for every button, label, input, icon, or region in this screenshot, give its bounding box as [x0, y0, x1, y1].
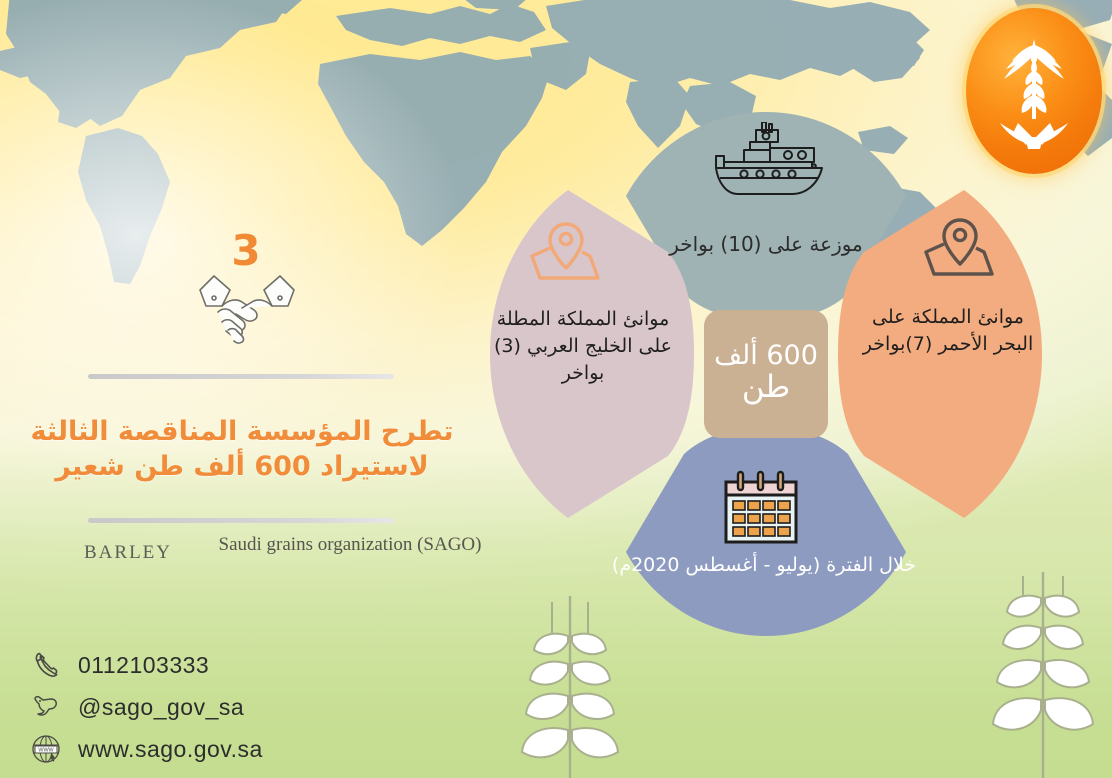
wheat-stalk-left-icon [500, 596, 640, 778]
infographic-canvas: 3 تطرح المؤسسة المناقصة الثالثة لاستيراد… [0, 0, 1112, 778]
organization-name-en: Saudi grains organization (SAGO) [210, 534, 490, 556]
center-value: 600 ألف [714, 342, 818, 370]
contact-row-phone[interactable]: 0112103333 [24, 644, 444, 686]
divider-top [88, 374, 394, 379]
petal-left-label: موانئ المملكة المطلة على الخليج العربي (… [490, 306, 676, 387]
map-pin-icon-right [916, 216, 1004, 280]
handshake-icon [192, 260, 302, 348]
commodity-label: BARLEY [84, 542, 172, 564]
page-title: تطرح المؤسسة المناقصة الثالثة لاستيراد 6… [12, 414, 472, 484]
twitter-bird-icon [24, 694, 68, 720]
ship-icon [702, 122, 834, 204]
calendar-icon [718, 470, 804, 550]
svg-text:WWW: WWW [38, 748, 54, 754]
contact-row-twitter[interactable]: @sago_gov_sa [24, 686, 444, 728]
center-total-badge: 600 ألف طن [704, 310, 828, 438]
phone-number: 0112103333 [68, 652, 209, 679]
petal-bottom-label: خلال الفترة (يوليو - أغسطس 2020م) [604, 552, 924, 579]
twitter-handle: @sago_gov_sa [68, 694, 244, 721]
petal-top-label: موزعة على (10) بواخر [616, 230, 916, 258]
map-pin-icon-left [522, 220, 610, 284]
contact-row-website[interactable]: WWW www.sago.gov.sa [24, 728, 444, 770]
subtitle-row: BARLEY Saudi grains organization (SAGO) [50, 534, 480, 590]
globe-www-icon: WWW [24, 732, 68, 766]
contact-block: 0112103333 @sago_gov_sa WWW [24, 644, 444, 770]
phone-icon [24, 650, 68, 680]
website-url: www.sago.gov.sa [68, 736, 263, 763]
flower-diagram: موزعة على (10) بواخر موانئ المملكة المطل… [476, 104, 1056, 644]
petal-right-label: موانئ المملكة على البحر الأحمر (7)بواخر [858, 304, 1038, 358]
handshake-block: 3 [176, 230, 316, 350]
center-unit: طن [742, 370, 790, 406]
wheat-stalk-right-icon [968, 572, 1112, 778]
divider-bottom [88, 518, 394, 523]
